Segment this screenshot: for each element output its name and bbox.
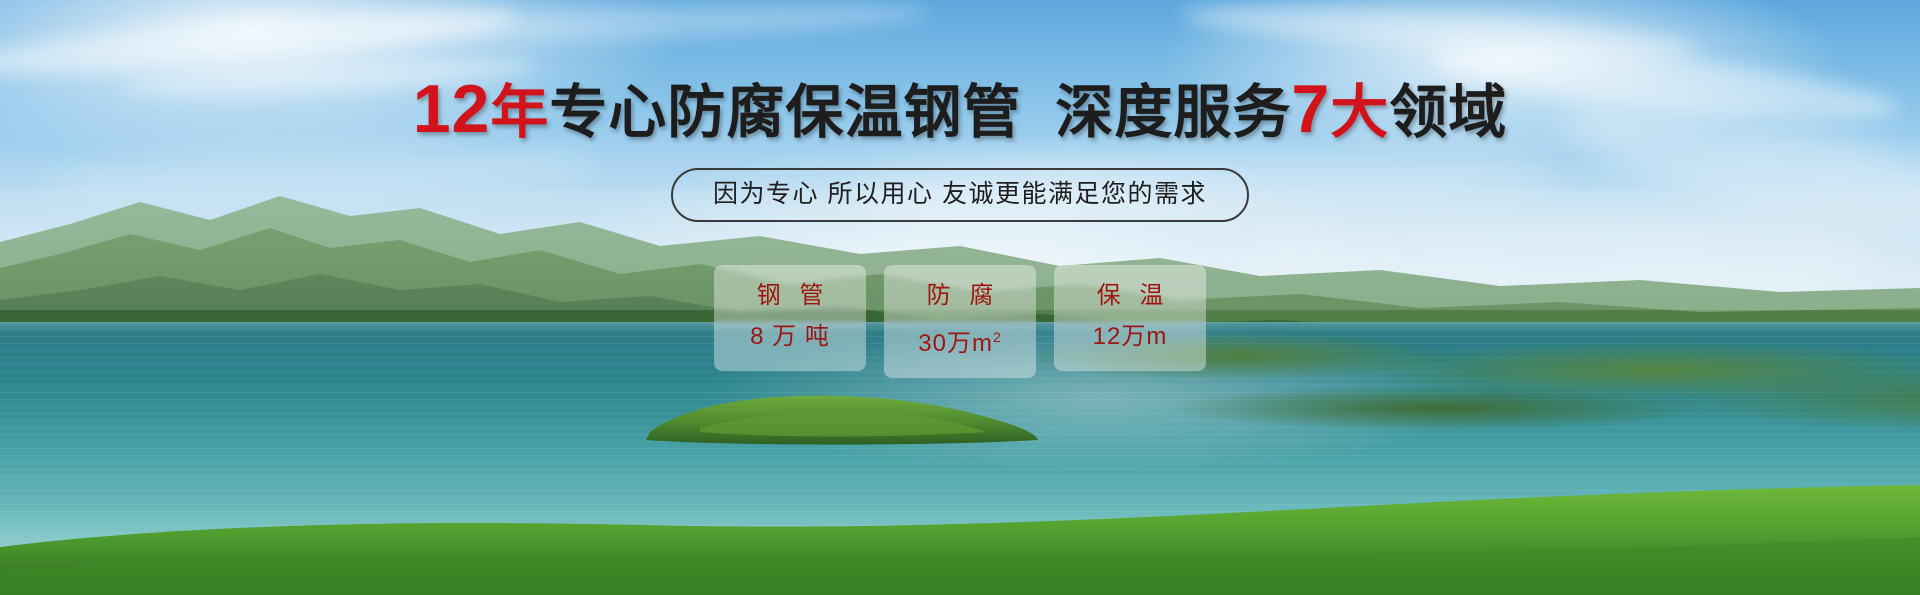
stat-card-label: 保 温 [1062,281,1198,311]
stat-card-steel-pipe: 钢 管 8 万 吨 [714,265,866,371]
headline-years-unit: 年 [490,80,549,145]
headline-segment-three: 领域 [1389,80,1507,145]
headline-years-number: 12 [413,71,491,147]
stat-card-value-text: 12万m [1093,323,1168,350]
promotional-banner: 12年专心防腐保温钢管深度服务7大领域 因为专心 所以用心 友诚更能满足您的需求… [0,0,1920,595]
stat-card-value-superscript: 2 [993,329,1002,345]
stat-card-label: 钢 管 [722,281,858,311]
banner-content: 12年专心防腐保温钢管深度服务7大领域 因为专心 所以用心 友诚更能满足您的需求… [0,0,1920,595]
stat-card-value-text: 8 万 吨 [750,323,830,350]
stat-card-insulation: 保 温 12万m [1054,265,1206,371]
headline-segment-one: 专心防腐保温钢管 [549,80,1021,145]
headline-segment-two: 深度服务 [1055,80,1291,145]
stat-card-anticorrosion: 防 腐 30万m2 [884,265,1036,378]
subtitle-container: 因为专心 所以用心 友诚更能满足您的需求 [0,168,1920,222]
headline: 12年专心防腐保温钢管深度服务7大领域 [0,78,1920,144]
stat-card-label: 防 腐 [892,281,1028,311]
stat-card-value: 30万m2 [892,323,1028,358]
headline-fields-number: 7 [1291,71,1330,147]
subtitle-pill: 因为专心 所以用心 友诚更能满足您的需求 [671,168,1249,222]
stat-card-value: 8 万 吨 [722,323,858,351]
stat-card-value: 12万m [1062,323,1198,351]
headline-fields-unit: 大 [1330,80,1389,145]
stat-card-value-text: 30万m [918,330,993,357]
stat-card-list: 钢 管 8 万 吨 防 腐 30万m2 保 温 12万m [0,265,1920,378]
